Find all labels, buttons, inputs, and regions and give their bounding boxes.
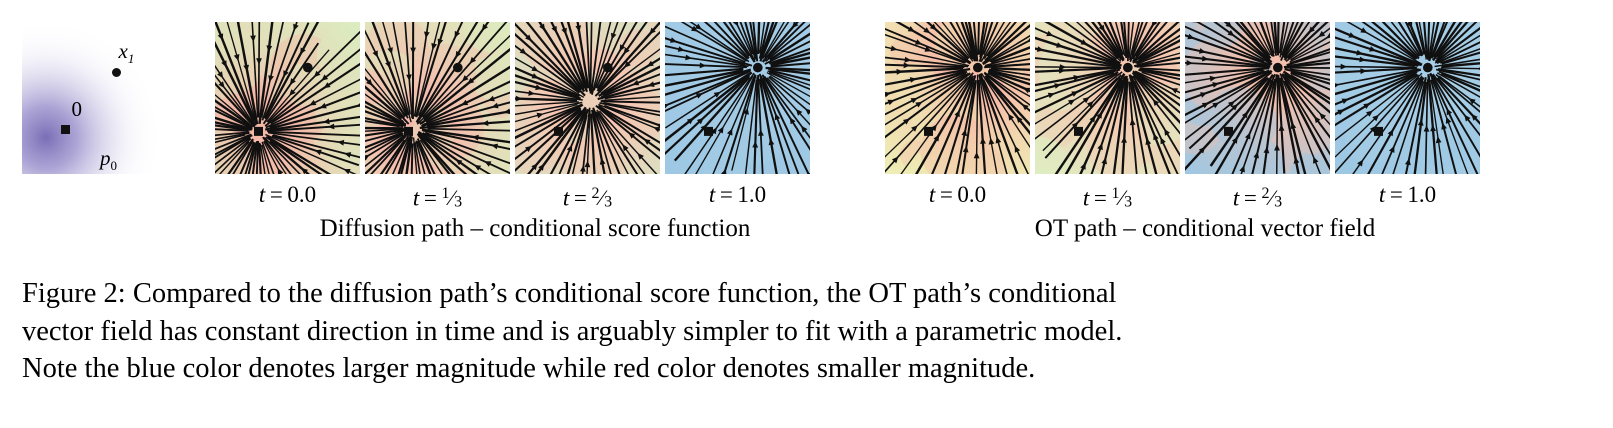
- time-value: 0.0: [287, 182, 316, 207]
- diffusion-panels-row: [215, 22, 855, 174]
- caption-line-2: vector field has constant direction in t…: [22, 313, 1594, 351]
- figure-2: x1 0 p0 t = 0.0t = 1⁄3t = 2⁄3t = 1.0 Dif…: [0, 0, 1613, 428]
- time-value: 1.0: [1407, 182, 1436, 207]
- origin-marker: [61, 125, 70, 134]
- diffusion-time-labels: t = 0.0t = 1⁄3t = 2⁄3t = 1.0: [215, 178, 855, 212]
- caption-line-3: Note the blue color denotes larger magni…: [22, 350, 1594, 388]
- caption-line-1: Figure 2: Compared to the diffusion path…: [22, 275, 1594, 313]
- time-label-ot-3: t = 1.0: [1335, 178, 1480, 212]
- prior-label-base: p: [100, 146, 111, 170]
- time-variable: t: [1083, 186, 1089, 211]
- vector-field-panel-diffusion-2: [515, 22, 660, 174]
- vector-field-panel-ot-1: [1035, 22, 1180, 174]
- prior-density-blob: [22, 22, 172, 174]
- vector-field-panel-diffusion-3: [665, 22, 810, 174]
- sample-point-label: x1: [119, 41, 135, 65]
- diffusion-path-group: t = 0.0t = 1⁄3t = 2⁄3t = 1.0 Diffusion p…: [215, 22, 855, 174]
- sample-label-sub: 1: [128, 51, 135, 66]
- time-value: 0.0: [957, 182, 986, 207]
- time-variable: t: [1233, 186, 1239, 211]
- vector-field-panel-ot-2: [1185, 22, 1330, 174]
- prior-density-panel: x1 0 p0: [22, 22, 172, 174]
- time-label-ot-0: t = 0.0: [885, 178, 1030, 212]
- vector-field-panel-ot-3: [1335, 22, 1480, 174]
- time-variable: t: [929, 182, 935, 207]
- sample-label-base: x: [119, 39, 128, 63]
- ot-time-labels: t = 0.0t = 1⁄3t = 2⁄3t = 1.0: [885, 178, 1525, 212]
- prior-label-sub: 0: [111, 158, 118, 173]
- vector-field-panel-diffusion-0: [215, 22, 360, 174]
- time-variable: t: [1379, 182, 1385, 207]
- vector-field-panel-ot-0: [885, 22, 1030, 174]
- time-variable: t: [413, 186, 419, 211]
- time-label-diffusion-0: t = 0.0: [215, 178, 360, 212]
- time-variable: t: [563, 186, 569, 211]
- ot-panels-row: [885, 22, 1525, 174]
- ot-group-title: OT path – conditional vector field: [885, 212, 1525, 246]
- time-variable: t: [259, 182, 265, 207]
- origin-label: 0: [72, 99, 83, 120]
- time-label-diffusion-3: t = 1.0: [665, 178, 810, 212]
- ot-path-group: t = 0.0t = 1⁄3t = 2⁄3t = 1.0 OT path – c…: [885, 22, 1525, 174]
- sample-point-marker: [112, 68, 121, 77]
- figure-caption: Figure 2: Compared to the diffusion path…: [22, 275, 1594, 388]
- vector-field-panel-diffusion-1: [365, 22, 510, 174]
- diffusion-group-title: Diffusion path – conditional score funct…: [215, 212, 855, 246]
- time-value: 1.0: [737, 182, 766, 207]
- prior-density-label: p0: [100, 148, 117, 172]
- time-variable: t: [709, 182, 715, 207]
